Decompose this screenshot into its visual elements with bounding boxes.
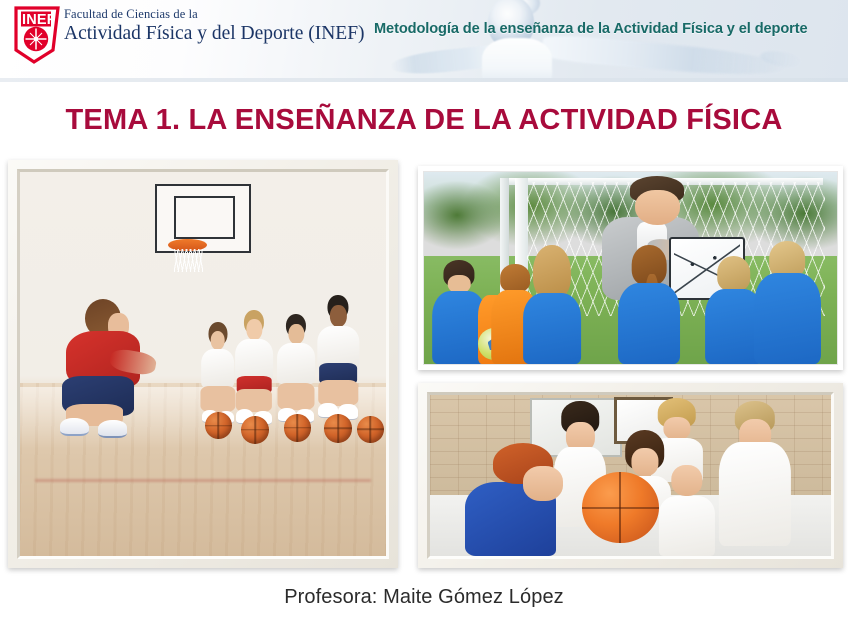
header-divider xyxy=(0,78,848,82)
svg-text:INEF: INEF xyxy=(22,12,56,28)
basketball-icon xyxy=(582,472,658,543)
photo-soccer-coach-tactics xyxy=(418,166,843,370)
professor-caption: Profesora: Maite Gómez López xyxy=(0,586,848,609)
faculty-name: Facultad de Ciencias de la Actividad Fís… xyxy=(64,7,365,45)
faculty-line-2: Actividad Física y del Deporte (INEF) xyxy=(64,22,365,45)
page-title: TEMA 1. LA ENSEÑANZA DE LA ACTIVIDAD FÍS… xyxy=(0,104,848,137)
slide: INEF Facultad de Ciencias de la Activida… xyxy=(0,0,848,636)
photo-gym-basketball-lesson xyxy=(8,160,398,568)
faculty-line-1: Facultad de Ciencias de la xyxy=(64,7,365,21)
header-banner: INEF Facultad de Ciencias de la Activida… xyxy=(0,0,848,82)
inef-logo-icon: INEF xyxy=(12,6,64,64)
athlete-silhouette-icon xyxy=(430,0,848,82)
photo-teacher-with-basketball xyxy=(418,383,843,568)
course-title: Metodología de la enseñanza de la Activi… xyxy=(374,21,808,37)
